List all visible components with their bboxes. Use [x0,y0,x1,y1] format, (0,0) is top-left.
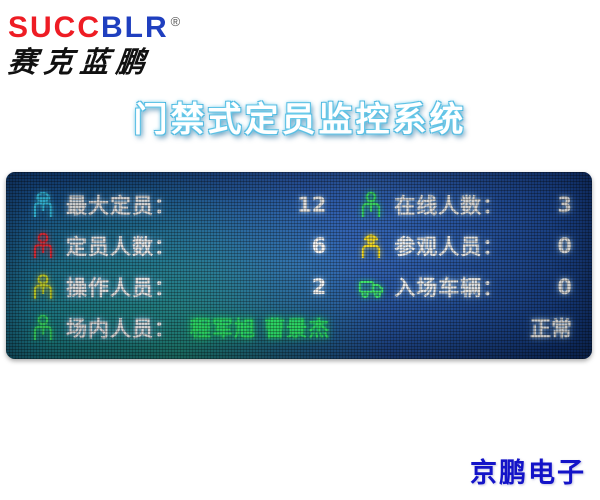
led-value-operator-count: 2 [312,275,331,299]
led-readout-grid: 最大定员： 12 在线人数： 3 [6,172,592,359]
truck-icon [358,272,384,302]
person-cap-icon [30,190,56,220]
led-display-panel: 最大定员： 12 在线人数： 3 [6,172,592,359]
led-label-visitor-count: 参观人员： [394,231,557,261]
person-icon [30,231,56,261]
led-row-onsite-personnel: 场内人员： 程军旭 曹景杰 [12,308,340,349]
led-label-vehicle-count: 入场车辆： [394,272,557,302]
led-label-operator-count: 操作人员： [66,272,312,302]
led-value-vehicle-count: 0 [557,275,576,299]
led-value-max-capacity: 12 [297,193,330,217]
led-value-registered-count: 6 [312,234,331,258]
person-icon [30,313,56,343]
person-hat-icon [358,231,384,261]
logo-latin-wordmark: SUCCBLR® [8,6,238,44]
led-row-online-count: 在线人数： 3 [340,184,586,225]
registered-trademark-icon: ® [171,14,181,29]
page-title: 门禁式定员监控系统 [0,92,600,141]
led-label-max-capacity: 最大定员： [66,190,297,220]
led-row-max-capacity: 最大定员： 12 [12,184,340,225]
footer-brand: 京鹏电子 [470,451,586,490]
logo-text-blr: BLR [101,11,169,44]
logo-chinese-wordmark: 赛克蓝鹏 [6,45,240,79]
person-helmet-icon [30,272,56,302]
led-row-vehicle-count: 入场车辆： 0 [340,267,586,308]
logo-text-succ: SUCC [8,11,101,44]
led-row-operator-count: 操作人员： 2 [12,267,340,308]
status-badge: 正常 [530,313,576,343]
led-row-visitor-count: 参观人员： 0 [340,225,586,266]
person-icon [358,190,384,220]
company-logo: SUCCBLR® 赛克蓝鹏 [8,6,238,78]
led-label-online-count: 在线人数： [394,190,557,220]
led-value-online-count: 3 [557,193,576,217]
led-label-registered-count: 定员人数： [66,231,312,261]
led-row-registered-count: 定员人数： 6 [12,225,340,266]
led-value-visitor-count: 0 [557,234,576,258]
led-row-system-status: 正常 [340,308,586,349]
led-label-onsite-personnel: 场内人员： [66,313,176,343]
led-value-onsite-names: 程军旭 曹景杰 [190,313,330,343]
